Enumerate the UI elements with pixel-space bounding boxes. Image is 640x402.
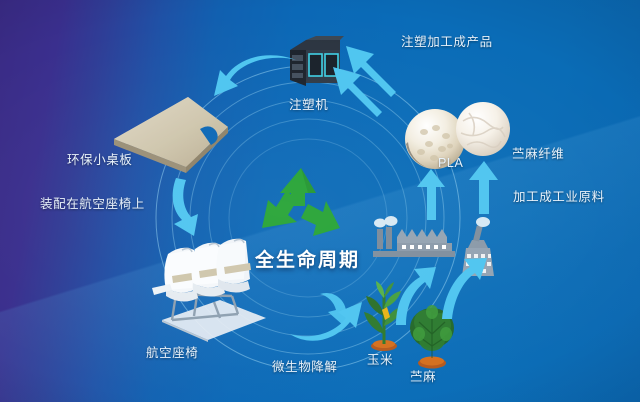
arrow-material-to-machine-2 xyxy=(328,62,388,116)
arrow-ramie-to-plant xyxy=(438,255,490,321)
arrow-to-ramie-fiber xyxy=(465,160,501,216)
process-label-processed-into-raw-material: 加工成工业原料 xyxy=(513,186,605,205)
node-label-aircraft-seat: 航空座椅 xyxy=(146,342,198,361)
arrow-to-pla xyxy=(414,168,448,222)
lifecycle-infographic: 全生命周期 注塑机 注塑加工成产品 xyxy=(0,0,640,402)
recycle-icon xyxy=(256,166,346,244)
ramie-fiber-sphere-icon xyxy=(455,101,511,157)
arrow-corn-to-factory xyxy=(390,265,438,327)
node-label-ramie-fiber: 苎麻纤维 xyxy=(512,143,564,162)
process-label-molded-into-products: 注塑加工成产品 xyxy=(401,31,493,50)
center-title: 全生命周期 xyxy=(255,245,360,272)
node-label-eco-tray-table: 环保小桌板 xyxy=(67,149,133,168)
node-label-ramie: 苎麻 xyxy=(410,366,436,385)
process-label-microbial-degradation: 微生物降解 xyxy=(272,356,338,375)
aircraft-seat-icon xyxy=(128,232,266,342)
process-label-assembled-on-seats: 装配在航空座椅上 xyxy=(40,193,145,212)
arrow-table-to-seat xyxy=(166,176,206,238)
tray-table-icon xyxy=(112,95,230,181)
node-label-corn: 玉米 xyxy=(367,349,393,368)
arrow-cycle-bottom xyxy=(318,288,352,328)
